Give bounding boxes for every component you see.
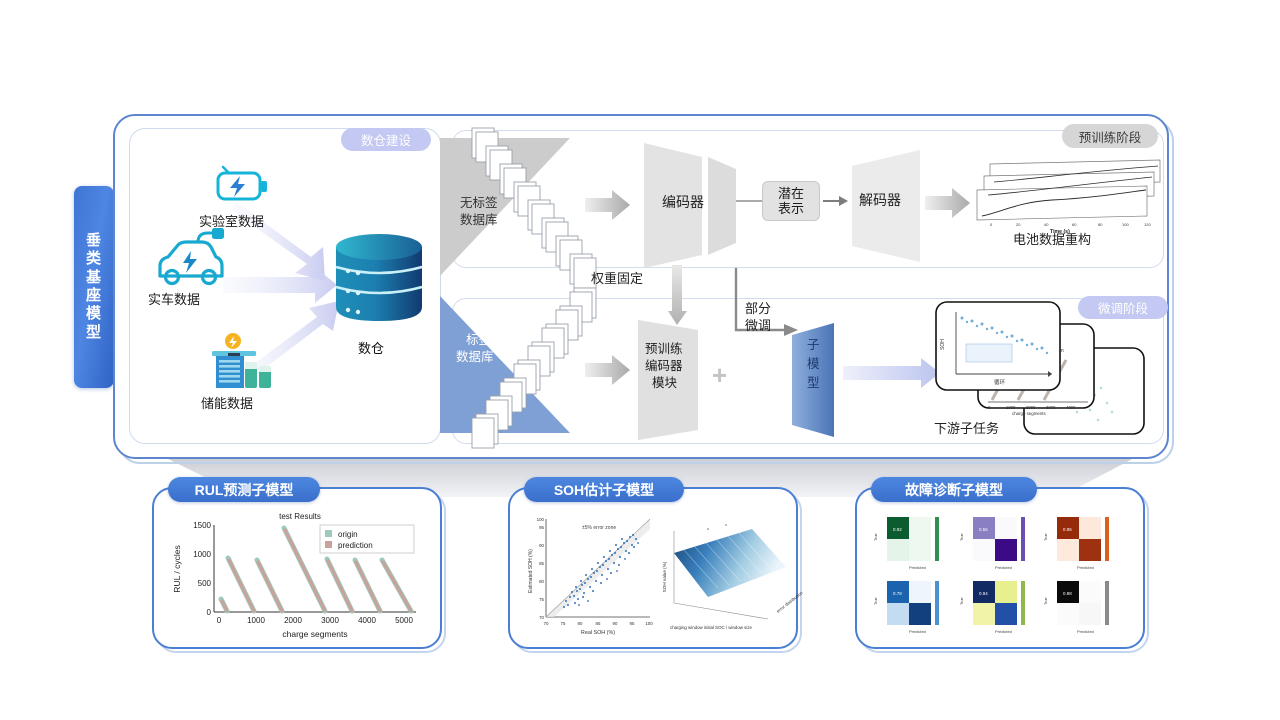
unlabeled-db-line1: 无标签 [460, 196, 498, 212]
fault-panel: 故障诊断子模型 0.92 Predicted 0.55 Predicted [855, 487, 1145, 649]
confusion-matrix-cividis: 0.94 Predicted [973, 581, 1025, 634]
warehouse-label: 数仓 [358, 338, 384, 357]
arrow-to-reconstruction [925, 188, 971, 218]
downstream-task-cards: originprediction 010002000 30004000 char… [930, 300, 1170, 440]
downstream-task-label: 下游子任务 [934, 421, 999, 437]
database-cylinder-icon [333, 233, 425, 323]
source-label-lab: 实验室数据 [199, 211, 264, 230]
svg-text:charging window initial SOC /: charging window initial SOC / window siz… [670, 625, 753, 630]
svg-text:Predicted: Predicted [909, 565, 926, 570]
svg-text:80: 80 [578, 621, 583, 626]
svg-text:0.94: 0.94 [979, 591, 988, 596]
card-xlabel: 循环 [994, 378, 1006, 386]
svg-text:Predicted: Predicted [909, 629, 926, 634]
encoder-label: 编码器 [662, 194, 704, 212]
svg-text:Predicted: Predicted [1077, 629, 1094, 634]
decoder-label: 解码器 [859, 192, 901, 210]
svg-text:100: 100 [537, 517, 545, 522]
svg-text:2000: 2000 [284, 616, 302, 625]
svg-text:4000: 4000 [1066, 405, 1076, 410]
svg-text:True: True [874, 597, 878, 605]
battery-bolt-icon [215, 165, 275, 207]
vtitle-char: 类 [86, 250, 102, 268]
card-ylabel: SOH [940, 339, 946, 350]
svg-text:Real SOH (%): Real SOH (%) [581, 630, 615, 636]
svg-text:85: 85 [539, 561, 544, 566]
confusion-matrix-grid: 0.92 Predicted 0.55 Predicted 0.95 Predi… [865, 511, 1139, 643]
weights-frozen-label: 权重固定 [591, 271, 643, 287]
svg-text:4000: 4000 [358, 616, 376, 625]
arrow-to-pretrained-encoder [585, 355, 631, 385]
reconstruction-label: 电池数据重构 [1013, 232, 1091, 248]
soh-surface-chart: SOH value (%) charging window initial SO… [660, 515, 794, 641]
svg-text:0.78: 0.78 [893, 591, 902, 596]
electric-car-icon [152, 232, 226, 294]
submodel-line3: 型 [807, 376, 820, 392]
svg-text:0: 0 [207, 608, 212, 617]
soh-panel-title: SOH估计子模型 [524, 477, 684, 502]
svg-text:True: True [960, 597, 964, 605]
svg-text:90: 90 [613, 621, 618, 626]
fault-panel-title: 故障诊断子模型 [871, 477, 1037, 502]
svg-text:3000: 3000 [1046, 405, 1056, 410]
svg-text:prediction: prediction [338, 541, 373, 550]
rul-panel-title: RUL预测子模型 [168, 477, 320, 502]
svg-text:1500: 1500 [193, 521, 211, 530]
soh-panel: SOH估计子模型 [508, 487, 798, 649]
svg-text:20: 20 [1016, 222, 1021, 227]
svg-text:3000: 3000 [321, 616, 339, 625]
svg-text:True: True [874, 533, 878, 541]
svg-text:±5% error zone: ±5% error zone [582, 525, 616, 531]
svg-text:90: 90 [539, 543, 544, 548]
weights-frozen-arrow [668, 265, 688, 327]
confusion-matrix-greys: 0.98 Predicted [1057, 581, 1109, 634]
svg-text:1000: 1000 [193, 550, 211, 559]
badge-pretrain-stage: 预训练阶段 [1062, 124, 1158, 148]
svg-text:95: 95 [539, 525, 544, 530]
svg-text:70: 70 [539, 615, 544, 620]
svg-text:test Results: test Results [279, 512, 321, 521]
vtitle-char: 垂 [86, 232, 102, 250]
latent-line2: 表示 [778, 201, 804, 216]
reconstruction-chart: 02040 6080100 120 Time (s) [972, 160, 1164, 238]
pretrained-encoder-line3: 模块 [652, 376, 677, 392]
svg-text:120: 120 [1144, 222, 1151, 227]
svg-text:40: 40 [1044, 222, 1049, 227]
svg-text:75: 75 [561, 621, 566, 626]
unlabeled-db-line2: 数据库 [460, 213, 498, 229]
svg-text:1000: 1000 [247, 616, 265, 625]
vtitle-char: 型 [86, 324, 102, 342]
vtitle-char: 基 [86, 269, 102, 287]
labeled-db-line2: 数据库 [456, 350, 494, 366]
soh-scatter-chart: ±5% error zone 707580 859095 100 707580 … [522, 513, 656, 641]
svg-text:0.92: 0.92 [893, 527, 902, 532]
svg-text:0.95: 0.95 [1063, 527, 1072, 532]
pretrained-encoder-line1: 预训练 [645, 342, 683, 358]
plus-icon: + [712, 360, 727, 391]
pretrained-encoder-line2: 编码器 [645, 359, 683, 375]
submodel-line2: 模 [807, 357, 820, 373]
source-label-storage: 储能数据 [201, 393, 253, 412]
svg-text:Predicted: Predicted [995, 565, 1012, 570]
svg-text:0: 0 [217, 616, 222, 625]
svg-text:70: 70 [544, 621, 549, 626]
svg-text:500: 500 [198, 579, 212, 588]
energy-storage-icon [204, 333, 276, 395]
svg-text:Estimated SOH (%): Estimated SOH (%) [528, 549, 534, 593]
svg-text:80: 80 [539, 579, 544, 584]
vtitle-char: 模 [86, 305, 102, 323]
svg-text:1000: 1000 [1006, 405, 1016, 410]
diagram-canvas: 垂 类 基 座 模 型 数仓建设 预训练阶段 微调阶段 [0, 0, 1280, 720]
rul-panel: RUL预测子模型 test Results 0500 10001500 0100… [152, 487, 442, 649]
arrow-to-encoder [585, 190, 631, 220]
svg-text:0.98: 0.98 [1063, 591, 1072, 596]
svg-text:charge segments: charge segments [1012, 411, 1046, 416]
svg-text:Predicted: Predicted [1077, 565, 1094, 570]
confusion-matrix-purples: 0.55 Predicted [973, 517, 1025, 570]
badge-data-warehouse: 数仓建设 [341, 128, 431, 151]
rul-chart: test Results 0500 10001500 010002000 300… [168, 511, 430, 643]
svg-text:True: True [1044, 533, 1048, 541]
arrow-to-downstream [843, 358, 941, 388]
svg-text:origin: origin [338, 530, 358, 539]
latent-line1: 潜在 [778, 186, 804, 201]
svg-text:2000: 2000 [1026, 405, 1036, 410]
svg-text:100: 100 [1122, 222, 1129, 227]
confusion-matrix-blues: 0.78 Predicted [887, 581, 939, 634]
labeled-db-line1: 标签 [466, 333, 491, 349]
svg-text:85: 85 [596, 621, 601, 626]
source-label-vehicle: 实车数据 [148, 289, 200, 308]
svg-text:75: 75 [539, 597, 544, 602]
svg-text:5000: 5000 [395, 616, 413, 625]
svg-text:RUL / cycles: RUL / cycles [172, 545, 182, 592]
svg-text:charge segments: charge segments [282, 629, 347, 639]
vtitle-char: 座 [86, 287, 102, 305]
vertical-title-bar: 垂 类 基 座 模 型 [74, 186, 114, 388]
partial-finetune-line2: 微调 [745, 318, 771, 334]
latent-representation-box: 潜在 表示 [762, 181, 820, 221]
svg-text:True: True [1044, 597, 1048, 605]
svg-text:60: 60 [1072, 222, 1077, 227]
svg-text:0.55: 0.55 [979, 527, 988, 532]
arrow-latent-to-decoder [823, 194, 849, 208]
svg-text:SOH value (%): SOH value (%) [662, 561, 667, 592]
confusion-matrix-greens: 0.92 Predicted [887, 517, 939, 570]
confusion-matrix-oranges: 0.95 Predicted [1057, 517, 1109, 570]
svg-text:True: True [960, 533, 964, 541]
svg-text:95: 95 [630, 621, 635, 626]
svg-text:80: 80 [1098, 222, 1103, 227]
svg-text:0: 0 [990, 222, 993, 227]
partial-finetune-line1: 部分 [745, 301, 771, 317]
svg-text:100: 100 [645, 621, 653, 626]
svg-text:Predicted: Predicted [995, 629, 1012, 634]
submodel-line1: 子 [807, 338, 820, 354]
